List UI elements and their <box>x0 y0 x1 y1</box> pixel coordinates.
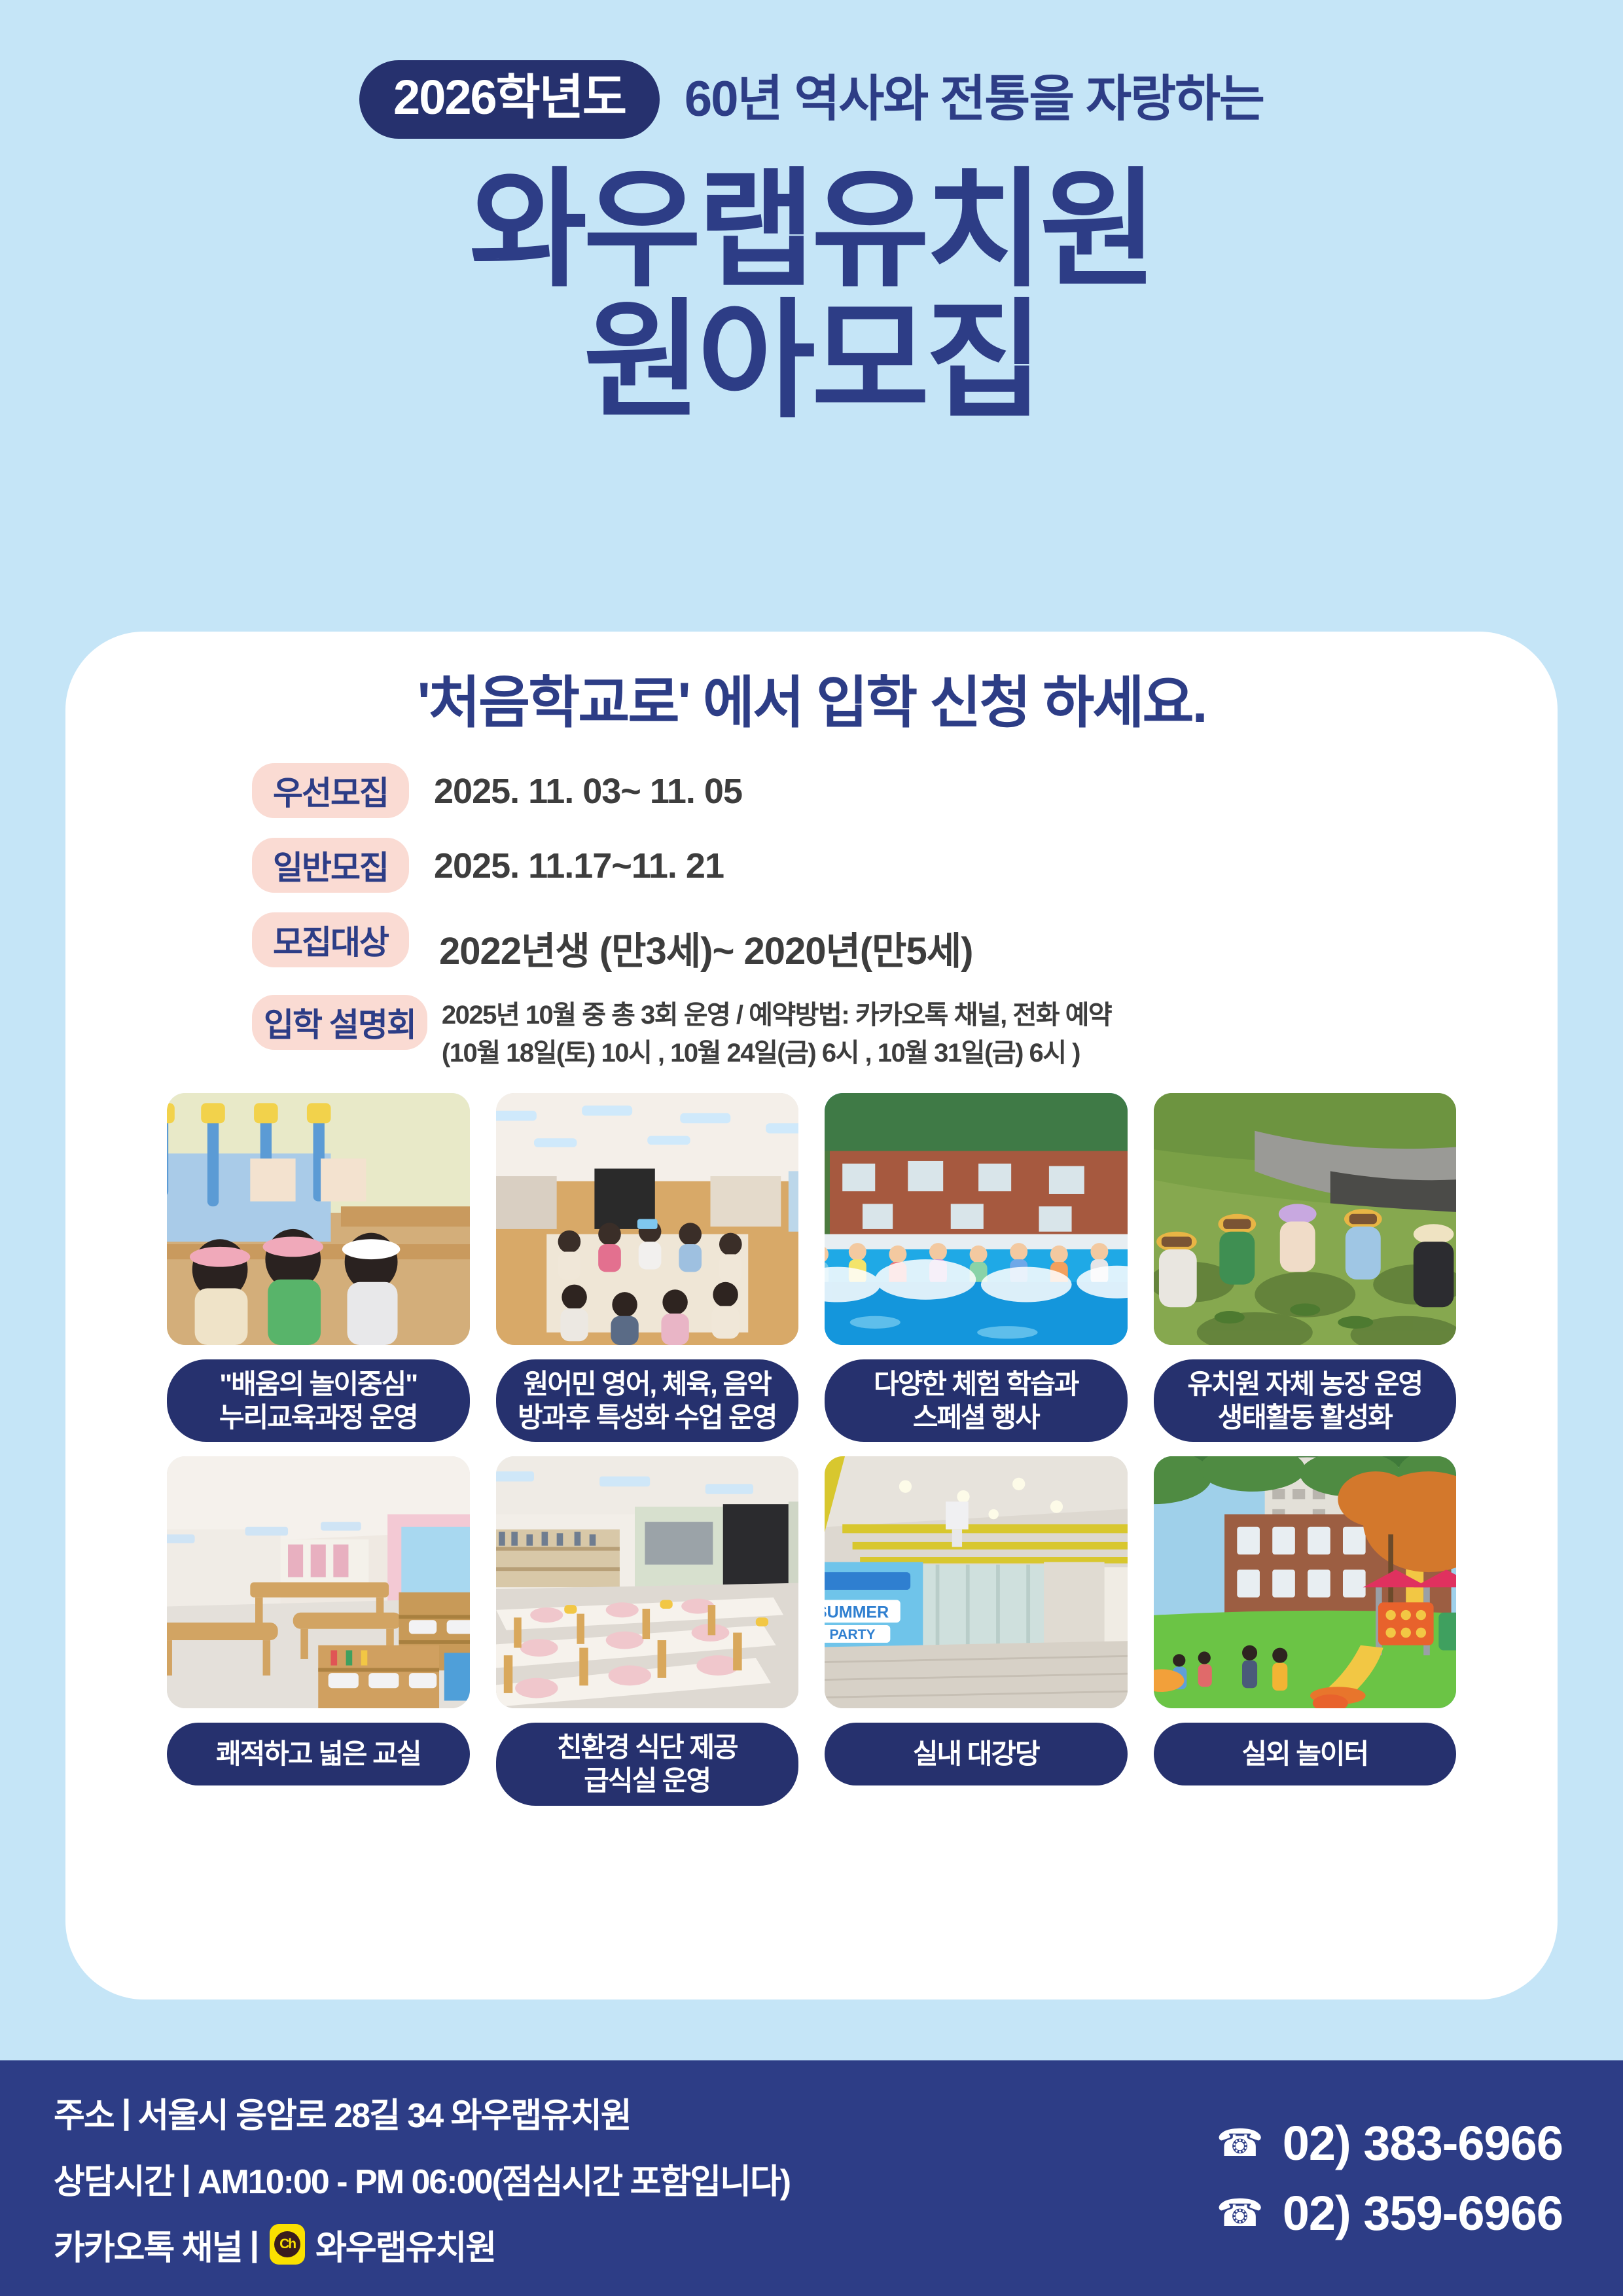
address-label: 주소 <box>54 2088 114 2137</box>
info-row-general: 일반모집 2025. 11.17~11. 21 <box>252 838 1558 893</box>
page-title: 와우랩유치원 원아모집 <box>0 168 1623 424</box>
phone-number-1: 02) 383-6966 <box>1283 2115 1563 2171</box>
footer-hours-line: 상담시간 | AM10:00 - PM 06:00(점심시간 포함입니다) <box>54 2154 790 2203</box>
hours-separator: | <box>181 2159 190 2198</box>
caption-6: 친환경 식단 제공 급식실 운영 <box>496 1723 799 1805</box>
header-tagline: 60년 역사와 전통을 자랑하는 <box>685 75 1264 124</box>
caption-3-line-1: 다양한 체험 학습과 <box>874 1369 1078 1399</box>
kakao-value: 와우랩유치원 <box>315 2220 495 2269</box>
caption-1-line-1: "배움의 놀이중심" <box>219 1369 417 1399</box>
info-row-briefing: 입학 설명회 2025년 10월 중 총 3회 운영 / 예약방법: 카카오톡 … <box>252 995 1558 1072</box>
photo-circle-time <box>496 1093 799 1345</box>
caption-2-line-2: 방과후 특성화 수업 운영 <box>518 1402 776 1433</box>
card-heading: '처음학교로' 에서 입학 신청 하세요. <box>65 632 1558 734</box>
caption-7: 실내 대강당 <box>825 1723 1128 1785</box>
caption-3-line-2: 스페셜 행사 <box>913 1402 1039 1433</box>
info-row-target: 모집대상 2022년생 (만3세)~ 2020년(만5세) <box>252 912 1558 975</box>
grid-cell-6: 친환경 식단 제공 급식실 운영 <box>496 1456 799 1805</box>
grid-cell-2: 원어민 영어, 체육, 음악 방과후 특성화 수업 운영 <box>496 1093 799 1442</box>
kakaotalk-channel-icon[interactable]: Ch <box>270 2224 305 2265</box>
briefing-line-2: (10월 18일(토) 10시 , 10월 24일(금) 6시 , 10월 31… <box>442 1034 1111 1072</box>
photo-indoor-hall: SUMMER PARTY <box>825 1456 1128 1708</box>
hours-value: AM10:00 - PM 06:00(점심시간 포함입니다) <box>198 2154 790 2203</box>
caption-8: 실외 놀이터 <box>1154 1723 1457 1785</box>
value-briefing: 2025년 10월 중 총 3회 운영 / 예약방법: 카카오톡 채널, 전화 … <box>442 995 1111 1072</box>
address-value: 서울시 응암로 28길 34 와우랩유치원 <box>137 2088 630 2137</box>
info-row-priority: 우선모집 2025. 11. 03~ 11. 05 <box>252 763 1558 818</box>
grid-cell-4: 유치원 자체 농장 운영 생태활동 활성화 <box>1154 1093 1457 1442</box>
value-general: 2025. 11.17~11. 21 <box>434 838 724 886</box>
caption-6-line-1: 친환경 식단 제공 <box>557 1732 738 1763</box>
grid-cell-3: 다양한 체험 학습과 스페셜 행사 <box>825 1093 1128 1442</box>
value-priority: 2025. 11. 03~ 11. 05 <box>434 763 742 812</box>
svg-text:SUMMER: SUMMER <box>825 1603 889 1621</box>
telephone-icon: ☎ <box>1217 2195 1263 2233</box>
admission-info-list: 우선모집 2025. 11. 03~ 11. 05 일반모집 2025. 11.… <box>65 763 1558 1072</box>
caption-5: 쾌적하고 넓은 교실 <box>167 1723 470 1785</box>
grid-cell-8: 실외 놀이터 <box>1154 1456 1457 1805</box>
caption-3: 다양한 체험 학습과 스페셜 행사 <box>825 1359 1128 1442</box>
hours-label: 상담시간 <box>54 2154 173 2203</box>
svg-text:PARTY: PARTY <box>830 1627 876 1642</box>
caption-4-line-2: 생태활동 활성화 <box>1218 1402 1392 1433</box>
phone-number-2: 02) 359-6966 <box>1283 2185 1563 2241</box>
badge-target: 모집대상 <box>252 912 409 967</box>
grid-cell-1: "배움의 놀이중심" 누리교육과정 운영 <box>167 1093 470 1442</box>
footer-kakao-line[interactable]: 카카오톡 채널 | Ch 와우랩유치원 <box>54 2220 790 2269</box>
photo-water-play <box>825 1093 1128 1345</box>
briefing-line-1: 2025년 10월 중 총 3회 운영 / 예약방법: 카카오톡 채널, 전화 … <box>442 996 1111 1034</box>
caption-2-line-1: 원어민 영어, 체육, 음악 <box>524 1369 771 1399</box>
caption-8-line-1: 실외 놀이터 <box>1241 1737 1368 1770</box>
kakao-label: 카카오톡 채널 <box>54 2220 242 2269</box>
caption-1: "배움의 놀이중심" 누리교육과정 운영 <box>167 1359 470 1442</box>
kakao-icon-text: Ch <box>274 2231 300 2257</box>
photo-classroom-play <box>167 1093 470 1345</box>
year-badge: 2026학년도 <box>359 60 660 139</box>
telephone-icon: ☎ <box>1217 2125 1263 2162</box>
content-card: '처음학교로' 에서 입학 신청 하세요. 우선모집 2025. 11. 03~… <box>65 632 1558 2000</box>
value-target: 2022년생 (만3세)~ 2020년(만5세) <box>439 912 972 975</box>
badge-general: 일반모집 <box>252 838 409 893</box>
photo-farm-harvest <box>1154 1093 1457 1345</box>
caption-5-line-1: 쾌적하고 넓은 교실 <box>216 1737 420 1770</box>
footer-phone-block: ☎ 02) 383-6966 ☎ 02) 359-6966 <box>1217 2115 1563 2241</box>
title-line-1: 와우랩유치원 <box>0 168 1623 293</box>
kakao-separator: | <box>250 2225 259 2264</box>
phone-row-1[interactable]: ☎ 02) 383-6966 <box>1217 2115 1563 2171</box>
grid-cell-7: SUMMER PARTY <box>825 1456 1128 1805</box>
footer-address-line: 주소 | 서울시 응암로 28길 34 와우랩유치원 <box>54 2088 790 2137</box>
caption-4: 유치원 자체 농장 운영 생태활동 활성화 <box>1154 1359 1457 1442</box>
title-line-2: 원아모집 <box>0 298 1623 424</box>
grid-cell-5: 쾌적하고 넓은 교실 <box>167 1456 470 1805</box>
poster-header: 2026학년도 60년 역사와 전통을 자랑하는 <box>0 0 1623 151</box>
photo-wide-classroom <box>167 1456 470 1708</box>
caption-7-line-1: 실내 대강당 <box>913 1737 1039 1770</box>
photo-outdoor-playground <box>1154 1456 1457 1708</box>
caption-6-line-2: 급식실 운영 <box>584 1765 710 1796</box>
photo-grid: "배움의 놀이중심" 누리교육과정 운영 <box>65 1093 1558 1806</box>
badge-priority: 우선모집 <box>252 763 409 818</box>
caption-4-line-1: 유치원 자체 농장 운영 <box>1187 1369 1422 1399</box>
badge-briefing: 입학 설명회 <box>252 995 427 1050</box>
photo-cafeteria <box>496 1456 799 1708</box>
poster-footer: 주소 | 서울시 응암로 28길 34 와우랩유치원 상담시간 | AM10:0… <box>0 2060 1623 2296</box>
footer-contact-block: 주소 | 서울시 응암로 28길 34 와우랩유치원 상담시간 | AM10:0… <box>54 2088 790 2269</box>
caption-1-line-2: 누리교육과정 운영 <box>219 1402 418 1433</box>
address-separator: | <box>122 2092 130 2132</box>
caption-2: 원어민 영어, 체육, 음악 방과후 특성화 수업 운영 <box>496 1359 799 1442</box>
phone-row-2[interactable]: ☎ 02) 359-6966 <box>1217 2185 1563 2241</box>
